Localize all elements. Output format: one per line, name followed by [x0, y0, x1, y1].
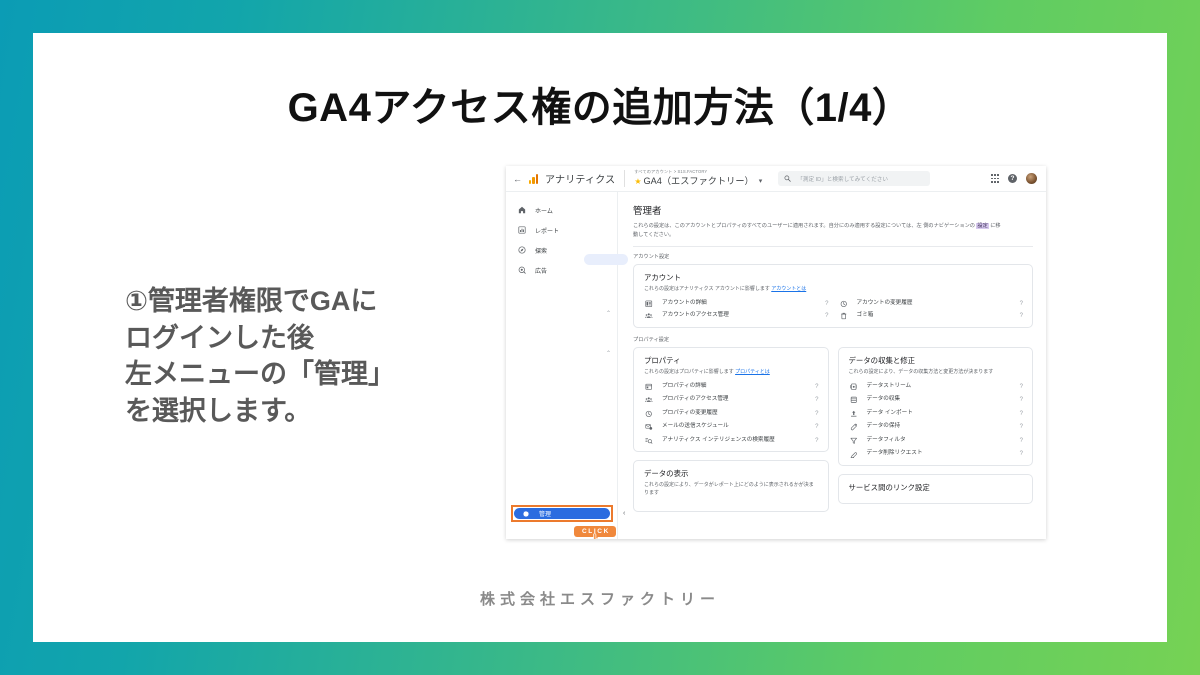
people-icon: [644, 312, 654, 320]
row-property-details[interactable]: プロパティの詳細 ?: [644, 383, 819, 391]
data-column: データの収集と修正 これらの設定により、データの収集方法と変更方法が決まります …: [838, 347, 1034, 512]
slide-background: GA4アクセス権の追加方法（1/4） ①管理者権限でGAに ログインした後 左メ…: [0, 0, 1200, 675]
help-icon[interactable]: ?: [1020, 301, 1023, 307]
eraser-icon: [849, 451, 859, 459]
help-icon[interactable]: ?: [815, 424, 818, 430]
row-property-access-management[interactable]: プロパティのアクセス管理 ?: [644, 396, 819, 404]
people-icon: [644, 396, 654, 404]
chevron-left-icon[interactable]: ‹: [623, 510, 625, 517]
row-email-schedule[interactable]: メールの送信スケジュール ?: [644, 423, 819, 431]
nav-collapse-chevron-2[interactable]: ⌃: [606, 350, 611, 357]
data-stream-icon: [849, 383, 859, 391]
account-card-rows: アカウントの詳細 ? アカウントの変更履歴 ?: [644, 300, 1023, 320]
ga4-screenshot: ← アナリティクス すべてのアカウント > S1S.FACTORY ★ GA4（…: [506, 166, 1046, 539]
row-data-deletion-request[interactable]: データ削除リクエスト ?: [849, 450, 1024, 458]
help-icon[interactable]: ?: [1020, 424, 1023, 430]
ga-top-bar: ← アナリティクス すべてのアカウント > S1S.FACTORY ★ GA4（…: [506, 166, 1046, 192]
account-card-subtext: これらの設定はアナリティクス アカウントに影響します アカウントとは: [644, 286, 1023, 294]
row-data-import[interactable]: データ インポート ?: [849, 410, 1024, 418]
row-data-streams[interactable]: データストリーム ?: [849, 383, 1024, 391]
data-display-card-subtext: これらの設定により、データがレポート上にどのように表示されるかが決まります: [644, 482, 819, 498]
email-schedule-icon: [644, 423, 654, 431]
service-links-card: サービス間のリンク設定: [838, 474, 1034, 504]
ga-left-nav: ホーム レポート 探索: [506, 192, 618, 539]
row-data-filters[interactable]: データフィルタ ?: [849, 437, 1024, 445]
sidebar-item-home[interactable]: ホーム: [506, 200, 617, 220]
row-account-details[interactable]: アカウントの詳細 ?: [644, 300, 829, 308]
property-card-rows: プロパティの詳細 ? プロパティのアクセス管理 ?: [644, 383, 819, 445]
history-clock-icon: [644, 410, 654, 418]
property-section-label: プロパティ設定: [633, 336, 1033, 343]
search-history-icon: [644, 437, 654, 445]
ga-body: ホーム レポート 探索: [506, 192, 1046, 539]
sidebar-label-explore: 探索: [535, 246, 547, 255]
upload-icon: [849, 410, 859, 418]
account-card-heading: アカウント: [644, 272, 1023, 283]
data-collection-card-heading: データの収集と修正: [849, 355, 1024, 366]
help-icon[interactable]: ?: [1020, 313, 1023, 319]
instruction-line-1: ①管理者権限でGAに: [125, 283, 485, 320]
row-label: データ削除リクエスト: [867, 450, 923, 458]
property-card-subtext: これらの設定はプロパティに影響します プロパティとは: [644, 369, 819, 377]
row-label: データ インポート: [867, 410, 913, 418]
nav-collapse-chevron-1[interactable]: ⌃: [606, 310, 611, 317]
property-card-subtext-text: これらの設定はプロパティに影響します: [644, 369, 735, 375]
service-links-card-heading: サービス間のリンク設定: [849, 482, 1024, 493]
help-icon[interactable]: ?: [815, 411, 818, 417]
pointing-hand-cursor-icon: [590, 532, 605, 539]
row-data-retention[interactable]: データの保持 ?: [849, 423, 1024, 431]
account-card-subtext-text: これらの設定はアナリティクス アカウントに影響します: [644, 286, 771, 292]
account-selector[interactable]: すべてのアカウント > S1S.FACTORY ★ GA4（エスファクトリー） …: [634, 170, 762, 186]
trash-icon: [839, 312, 849, 320]
apps-grid-icon[interactable]: [991, 174, 999, 182]
property-card: プロパティ これらの設定はプロパティに影響します プロパティとは: [633, 347, 829, 452]
row-label: プロパティの詳細: [662, 383, 706, 391]
instruction-line-2: ログインした後: [125, 320, 485, 357]
row-property-change-history[interactable]: プロパティの変更履歴 ?: [644, 410, 819, 418]
row-account-access-management[interactable]: アカウントのアクセス管理 ?: [644, 312, 829, 320]
help-icon[interactable]: ?: [1020, 397, 1023, 403]
instruction-line-3: 左メニューの「管理」: [125, 356, 485, 393]
search-icon: [784, 175, 791, 182]
history-clock-icon: [839, 300, 849, 308]
retention-icon: [849, 423, 859, 431]
admin-button-highlight: 管理: [511, 505, 613, 522]
row-label: アカウントのアクセス管理: [662, 312, 729, 320]
back-arrow-icon[interactable]: ←: [513, 174, 522, 184]
row-data-collection[interactable]: データの収集 ?: [849, 396, 1024, 404]
row-analytics-intelligence-search-history[interactable]: アナリティクス インテリジェンスの検索履歴 ?: [644, 437, 819, 445]
sidebar-label-home: ホーム: [535, 206, 553, 215]
gear-icon: [522, 510, 530, 518]
instruction-text: ①管理者権限でGAに ログインした後 左メニューの「管理」 を選択します。: [125, 283, 485, 430]
filter-icon: [849, 437, 859, 445]
home-icon: [517, 206, 526, 214]
data-collection-card-rows: データストリーム ? データの収集 ?: [849, 383, 1024, 458]
help-icon[interactable]: ?: [825, 301, 828, 307]
nav-highlight-pill: [584, 254, 628, 265]
account-card: アカウント これらの設定はアナリティクス アカウントに影響します アカウントとは…: [633, 264, 1033, 328]
row-label: データフィルタ: [867, 437, 906, 445]
data-collection-card-subtext: これらの設定により、データの収集方法と変更方法が決まります: [849, 369, 1024, 377]
divider: [633, 246, 1033, 247]
analytics-logo-icon: [529, 173, 540, 184]
help-icon[interactable]: ?: [1020, 384, 1023, 390]
data-display-card-heading: データの表示: [644, 468, 819, 479]
row-label: データの収集: [867, 396, 901, 404]
row-label: ゴミ箱: [857, 312, 874, 320]
row-label: アナリティクス インテリジェンスの検索履歴: [662, 437, 775, 445]
row-label: プロパティのアクセス管理: [662, 396, 729, 404]
help-icon[interactable]: ?: [825, 313, 828, 319]
admin-description-line-1: これらの設定は、このアカウントとプロパティのすべてのユーザーに適用されます。自分…: [633, 223, 922, 229]
footer-company-name: 株式会社エスファクトリー: [33, 588, 1167, 609]
property-selector-row: ★ GA4（エスファクトリー） ▾: [634, 177, 762, 187]
advertising-icon: [517, 266, 526, 274]
help-icon[interactable]: ?: [815, 384, 818, 390]
admin-main-panel: 管理者 これらの設定は、このアカウントとプロパティのすべてのユーザーに適用されま…: [618, 192, 1046, 539]
settings-link-highlight[interactable]: 設定: [976, 223, 988, 229]
reports-bar-chart-icon: [517, 226, 526, 234]
admin-description-line-2a: 側のナビゲーションの: [923, 223, 976, 229]
help-icon[interactable]: ?: [1020, 451, 1023, 457]
sidebar-label-advertising: 広告: [535, 266, 547, 275]
help-icon[interactable]: ?: [1020, 411, 1023, 417]
analytics-brand-label: アナリティクス: [545, 171, 615, 186]
admin-description: これらの設定は、このアカウントとプロパティのすべてのユーザーに適用されます。自分…: [633, 222, 1001, 239]
topbar-divider: [624, 170, 625, 187]
row-label: アカウントの変更履歴: [857, 300, 913, 308]
topbar-right-actions: ?: [991, 173, 1039, 184]
property-card-link[interactable]: プロパティとは: [735, 369, 770, 375]
search-placeholder: 「測定 ID」と検索してみてください: [797, 175, 888, 183]
data-collection-card: データの収集と修正 これらの設定により、データの収集方法と変更方法が決まります …: [838, 347, 1034, 466]
sidebar-label-reports: レポート: [535, 226, 559, 235]
account-card-link[interactable]: アカウントとは: [771, 286, 806, 292]
star-icon[interactable]: ★: [634, 178, 641, 186]
database-icon: [849, 396, 859, 404]
help-icon[interactable]: ?: [815, 438, 818, 444]
data-display-card: データの表示 これらの設定により、データがレポート上にどのように表示されるかが決…: [633, 460, 829, 512]
property-name-label: GA4（エスファクトリー）: [643, 177, 753, 187]
breadcrumb: すべてのアカウント > S1S.FACTORY: [634, 169, 707, 174]
chevron-down-icon[interactable]: ▾: [759, 178, 763, 185]
account-details-icon: [644, 300, 654, 308]
row-label: アカウントの詳細: [662, 300, 707, 308]
instruction-line-4: を選択します。: [125, 393, 485, 430]
account-section-label: アカウント設定: [633, 253, 1033, 260]
help-icon[interactable]: ?: [815, 397, 818, 403]
property-card-heading: プロパティ: [644, 355, 819, 366]
search-input[interactable]: 「測定 ID」と検索してみてください: [778, 171, 930, 186]
property-details-icon: [644, 383, 654, 391]
explore-compass-icon: [517, 246, 526, 254]
row-trash[interactable]: ゴミ箱 ?: [839, 312, 1024, 320]
admin-heading: 管理者: [633, 203, 1033, 217]
row-label: メールの送信スケジュール: [662, 423, 729, 431]
property-column: プロパティ これらの設定はプロパティに影響します プロパティとは: [633, 347, 829, 520]
admin-button-label: 管理: [539, 509, 551, 518]
row-label: プロパティの変更履歴: [662, 410, 718, 418]
avatar[interactable]: [1026, 173, 1037, 184]
help-icon[interactable]: ?: [1008, 174, 1017, 183]
property-columns: プロパティ これらの設定はプロパティに影響します プロパティとは: [633, 347, 1033, 520]
row-account-change-history[interactable]: アカウントの変更履歴 ?: [839, 300, 1024, 308]
slide-white-card: GA4アクセス権の追加方法（1/4） ①管理者権限でGAに ログインした後 左メ…: [33, 33, 1167, 642]
sidebar-item-reports[interactable]: レポート: [506, 220, 617, 240]
row-label: データストリーム: [867, 383, 912, 391]
sidebar-item-admin[interactable]: 管理: [514, 508, 610, 519]
row-label: データの保持: [867, 423, 901, 431]
help-icon[interactable]: ?: [1020, 438, 1023, 444]
page-title: GA4アクセス権の追加方法（1/4）: [33, 75, 1167, 133]
